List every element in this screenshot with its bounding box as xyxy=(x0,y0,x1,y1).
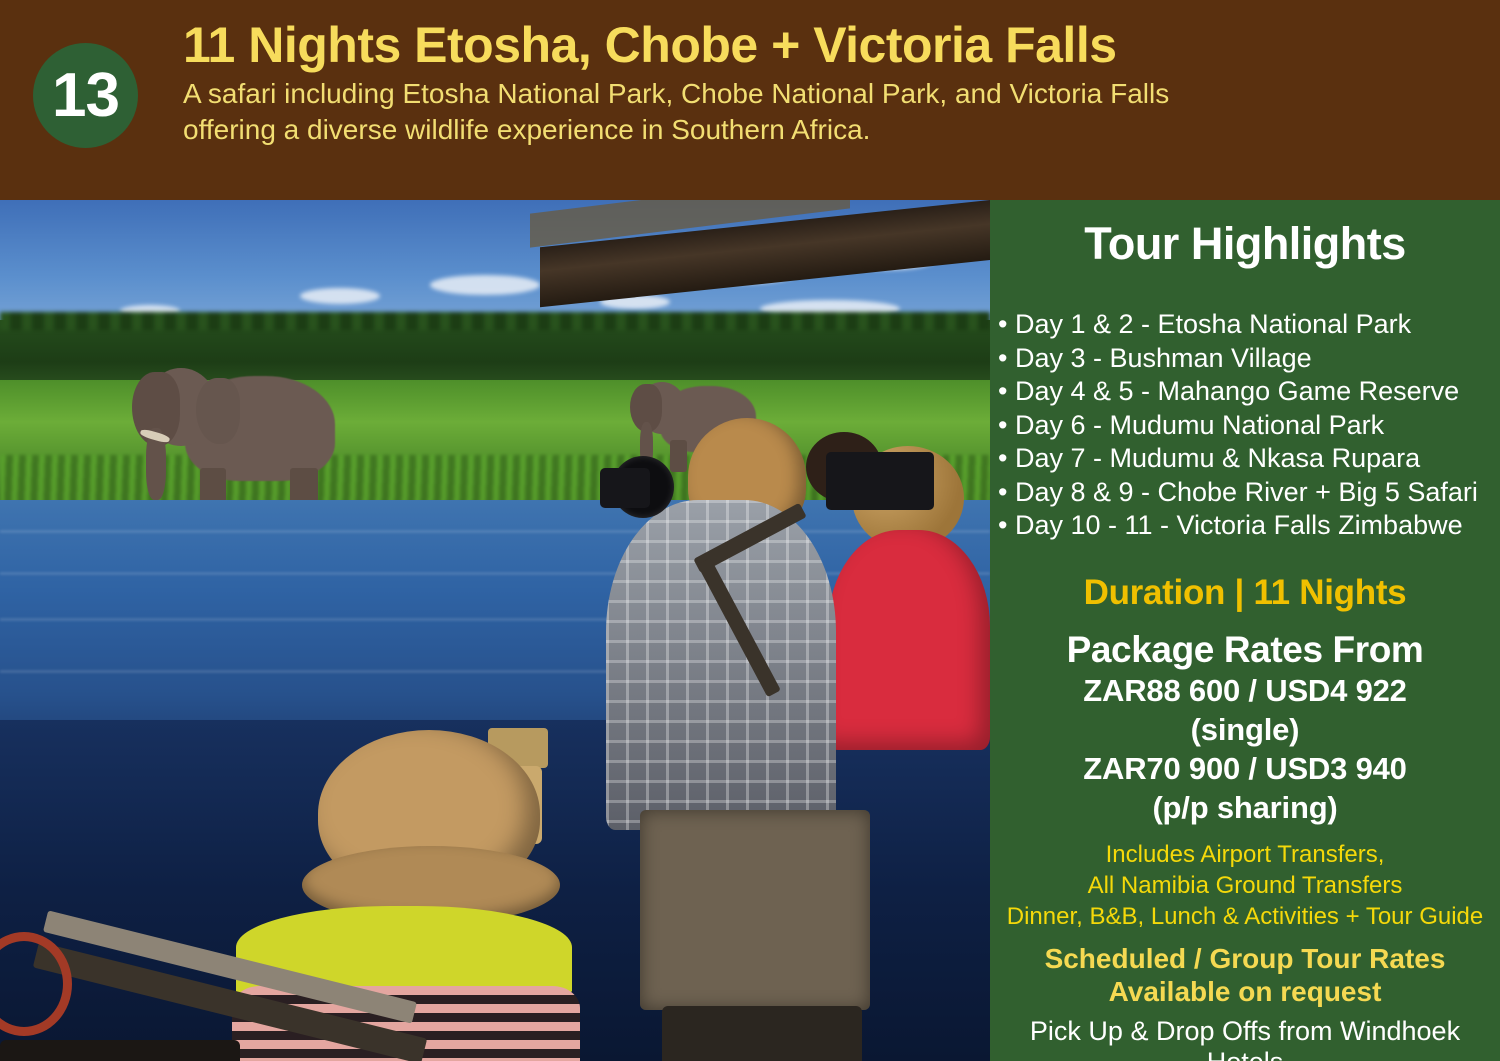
includes-line-2: All Namibia Ground Transfers xyxy=(990,870,1500,901)
safari-photo xyxy=(0,200,990,1061)
scheduled-rates-line-1: Scheduled / Group Tour Rates xyxy=(990,942,1500,975)
camera-icon xyxy=(600,468,650,508)
scheduled-rates-line-2: Available on request xyxy=(990,975,1500,1008)
rate-sharing-label: (p/p sharing) xyxy=(990,788,1500,827)
list-item: • Day 7 - Mudumu & Nkasa Rupara xyxy=(998,442,1500,476)
tour-info-panel: Tour Highlights • Day 1 & 2 - Etosha Nat… xyxy=(990,200,1500,1061)
highlights-list: • Day 1 & 2 - Etosha National Park • Day… xyxy=(990,308,1500,543)
brochure-page: 13 11 Nights Etosha, Chobe + Victoria Fa… xyxy=(0,0,1500,1061)
header-banner: 13 11 Nights Etosha, Chobe + Victoria Fa… xyxy=(0,0,1500,200)
elephant-leg xyxy=(670,440,687,472)
tour-subtitle-line1: A safari including Etosha National Park,… xyxy=(183,76,1483,112)
cloud-icon xyxy=(300,288,380,304)
rate-sharing: ZAR70 900 / USD3 940 xyxy=(990,749,1500,788)
boat-seat-frame xyxy=(662,1006,862,1061)
rate-single-label: (single) xyxy=(990,710,1500,749)
boat-shadow xyxy=(0,1040,240,1061)
package-rates-heading: Package Rates From xyxy=(990,629,1500,671)
list-item: • Day 1 & 2 - Etosha National Park xyxy=(998,308,1500,342)
list-item: • Day 4 & 5 - Mahango Game Reserve xyxy=(998,375,1500,409)
list-item: • Day 6 - Mudumu National Park xyxy=(998,409,1500,443)
page-title: 11 Nights Etosha, Chobe + Victoria Falls xyxy=(183,18,1483,72)
tour-subtitle-line2: offering a diverse wildlife experience i… xyxy=(183,112,1483,148)
tour-number: 13 xyxy=(52,65,119,127)
header-text-block: 11 Nights Etosha, Chobe + Victoria Falls… xyxy=(183,18,1483,147)
pickup-note: Pick Up & Drop Offs from Windhoek Hotels xyxy=(990,1016,1500,1061)
camera-icon xyxy=(826,452,934,510)
rate-single: ZAR88 600 / USD4 922 xyxy=(990,671,1500,710)
includes-line-3: Dinner, B&B, Lunch & Activities + Tour G… xyxy=(990,901,1500,932)
list-item: • Day 8 & 9 - Chobe River + Big 5 Safari xyxy=(998,476,1500,510)
cloud-icon xyxy=(430,275,540,295)
tour-number-badge: 13 xyxy=(33,43,138,148)
list-item: • Day 3 - Bushman Village xyxy=(998,342,1500,376)
duration-label: Duration | 11 Nights xyxy=(990,573,1500,613)
elephant-ear xyxy=(196,378,240,444)
boat-seat xyxy=(640,810,870,1010)
panel-title: Tour Highlights xyxy=(990,200,1500,270)
list-item: • Day 10 - 11 - Victoria Falls Zimbabwe xyxy=(998,509,1500,543)
includes-line-1: Includes Airport Transfers, xyxy=(990,839,1500,870)
tourist-red-shirt xyxy=(828,530,990,750)
water-ripple xyxy=(0,530,990,533)
